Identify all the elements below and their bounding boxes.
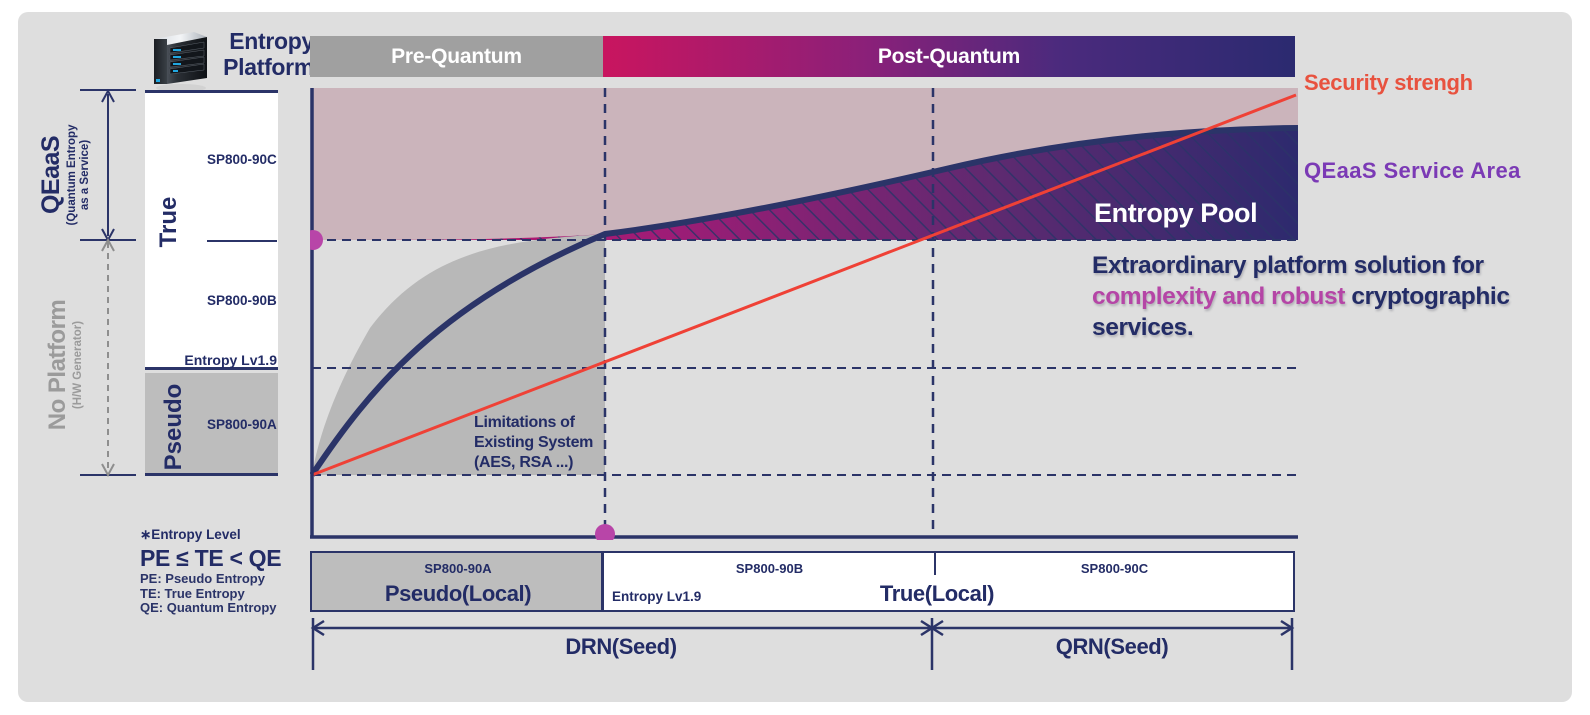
entropy-sp800-90b-label: SP800-90B <box>207 293 277 308</box>
pre-post-boundary-marker <box>595 524 615 540</box>
legend-formula: PE ≤ TE < QE <box>140 545 310 572</box>
qeaas-axis-label: QEaaS (Quantum Entropy as a Service) <box>44 100 84 250</box>
platform-blurb-part1: Extraordinary platform solution for <box>1092 252 1484 279</box>
qrn-seed-label: QRN(Seed) <box>932 634 1292 660</box>
qeaas-label-sub2: as a Service) <box>79 125 92 226</box>
qeaas-label-sub1: (Quantum Entropy <box>66 125 79 226</box>
era-label-post-quantum: Post-Quantum <box>603 36 1295 77</box>
platform-blurb-highlight: complexity and robust <box>1092 283 1345 310</box>
band-sp800-90c-label: SP800-90C <box>936 561 1293 576</box>
sp800-category-band: SP800-90A SP800-90B SP800-90C Pseudo(Loc… <box>310 551 1295 612</box>
qeaas-label-main: QEaaS <box>37 136 65 214</box>
entropy-sp800-90a-label: SP800-90A <box>207 417 277 432</box>
diagram-root: Entropy Platform Pre-Quantum Post-Quantu… <box>0 0 1590 715</box>
entropy-sp800-90c-label: SP800-90C <box>207 152 277 167</box>
drn-seed-label: DRN(Seed) <box>310 634 932 660</box>
platform-title: Entropy Platform <box>206 28 314 80</box>
platform-blurb: Extraordinary platform solution for comp… <box>1092 250 1562 343</box>
seed-range-row: DRN(Seed) QRN(Seed) <box>310 612 1295 672</box>
limitations-note-line2: Existing System <box>474 433 624 453</box>
era-bar-pre-quantum: Pre-Quantum <box>310 36 603 77</box>
legend-pe: PE: Pseudo Entropy <box>140 572 310 587</box>
no-platform-label-main: No Platform <box>44 300 71 431</box>
band-entropy-lv19-label: Entropy Lv1.9 <box>612 589 701 604</box>
limitations-note-line1: Limitations of <box>474 413 624 433</box>
platform-title-line1: Entropy <box>206 28 314 54</box>
entropy-pool-callout: Entropy Pool <box>1094 198 1257 229</box>
entropy-pseudo-label: Pseudo <box>162 372 186 482</box>
limitations-note: Limitations of Existing System (AES, RSA… <box>474 413 624 473</box>
entropy-level-column: True Pseudo SP800-90C SP800-90B SP800-90… <box>145 90 278 476</box>
legend-qe: QE: Quantum Entropy <box>140 601 310 616</box>
band-sp800-90a-label: SP800-90A <box>312 561 604 576</box>
qeaas-service-area-callout: QEaaS Service Area <box>1304 158 1521 184</box>
entropy-column-divider <box>207 240 277 242</box>
limitations-note-line3: (AES, RSA ...) <box>474 453 624 473</box>
entropy-lv19-label: Entropy Lv1.9 <box>157 352 277 368</box>
band-true-local-label: True(Local) <box>792 581 1082 607</box>
era-bar-post-quantum: Post-Quantum <box>603 36 1295 77</box>
security-strength-callout: Security strengh <box>1304 70 1473 96</box>
era-label-pre-quantum: Pre-Quantum <box>310 36 603 77</box>
band-pseudo-local-label: Pseudo(Local) <box>312 581 604 607</box>
no-platform-axis-label: No Platform (H/W Generator) <box>44 280 84 450</box>
band-sp800-90b-label: SP800-90B <box>607 561 932 576</box>
platform-title-line2: Platform <box>206 54 314 80</box>
legend-title: ∗Entropy Level <box>140 527 310 543</box>
entropy-true-label: True <box>157 182 181 262</box>
legend-te: TE: True Entropy <box>140 587 310 602</box>
entropy-level-legend: ∗Entropy Level PE ≤ TE < QE PE: Pseudo E… <box>140 527 310 616</box>
no-platform-label-sub: (H/W Generator) <box>72 300 85 431</box>
server-rack-icon <box>148 26 210 92</box>
